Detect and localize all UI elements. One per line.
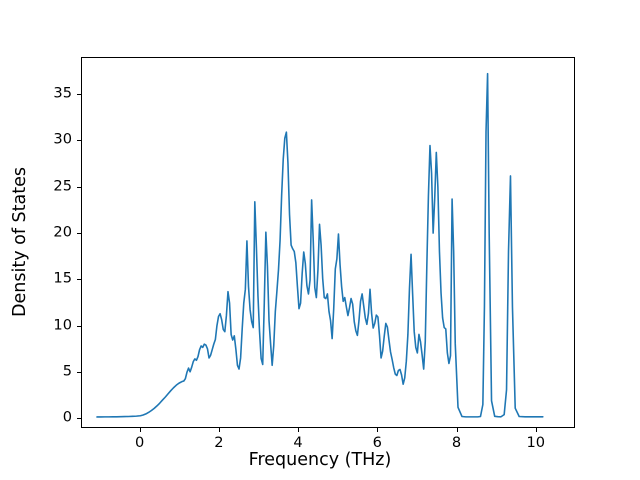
dos-series-line <box>97 74 543 417</box>
y-tick-label: 15 <box>40 272 72 287</box>
x-tick-mark <box>298 428 299 432</box>
y-tick-label: 5 <box>40 365 72 380</box>
x-tick-label: 0 <box>135 436 144 451</box>
y-tick-label: 35 <box>40 87 72 102</box>
x-tick-mark <box>377 428 378 432</box>
y-axis-label-container: Density of States <box>0 0 40 480</box>
x-tick-label: 8 <box>452 436 461 451</box>
x-tick-mark <box>219 428 220 432</box>
figure-canvas: Density of States 05101520253035 0246810… <box>0 0 640 480</box>
y-tick-label: 25 <box>40 179 72 194</box>
y-axis-label: Density of States <box>10 22 30 462</box>
x-axis-label: Frequency (THz) <box>0 450 640 470</box>
x-tick-label: 6 <box>373 436 382 451</box>
y-tick-label: 30 <box>40 133 72 148</box>
x-tick-label: 4 <box>293 436 302 451</box>
y-tick-label: 10 <box>40 318 72 333</box>
x-tick-mark <box>457 428 458 432</box>
x-tick-mark <box>536 428 537 432</box>
plot-area <box>81 57 575 428</box>
dos-line-chart <box>82 58 574 427</box>
y-tick-label: 0 <box>40 411 72 426</box>
x-tick-label: 2 <box>214 436 223 451</box>
y-tick-label: 20 <box>40 226 72 241</box>
x-tick-label: 10 <box>526 436 545 451</box>
x-tick-mark <box>140 428 141 432</box>
